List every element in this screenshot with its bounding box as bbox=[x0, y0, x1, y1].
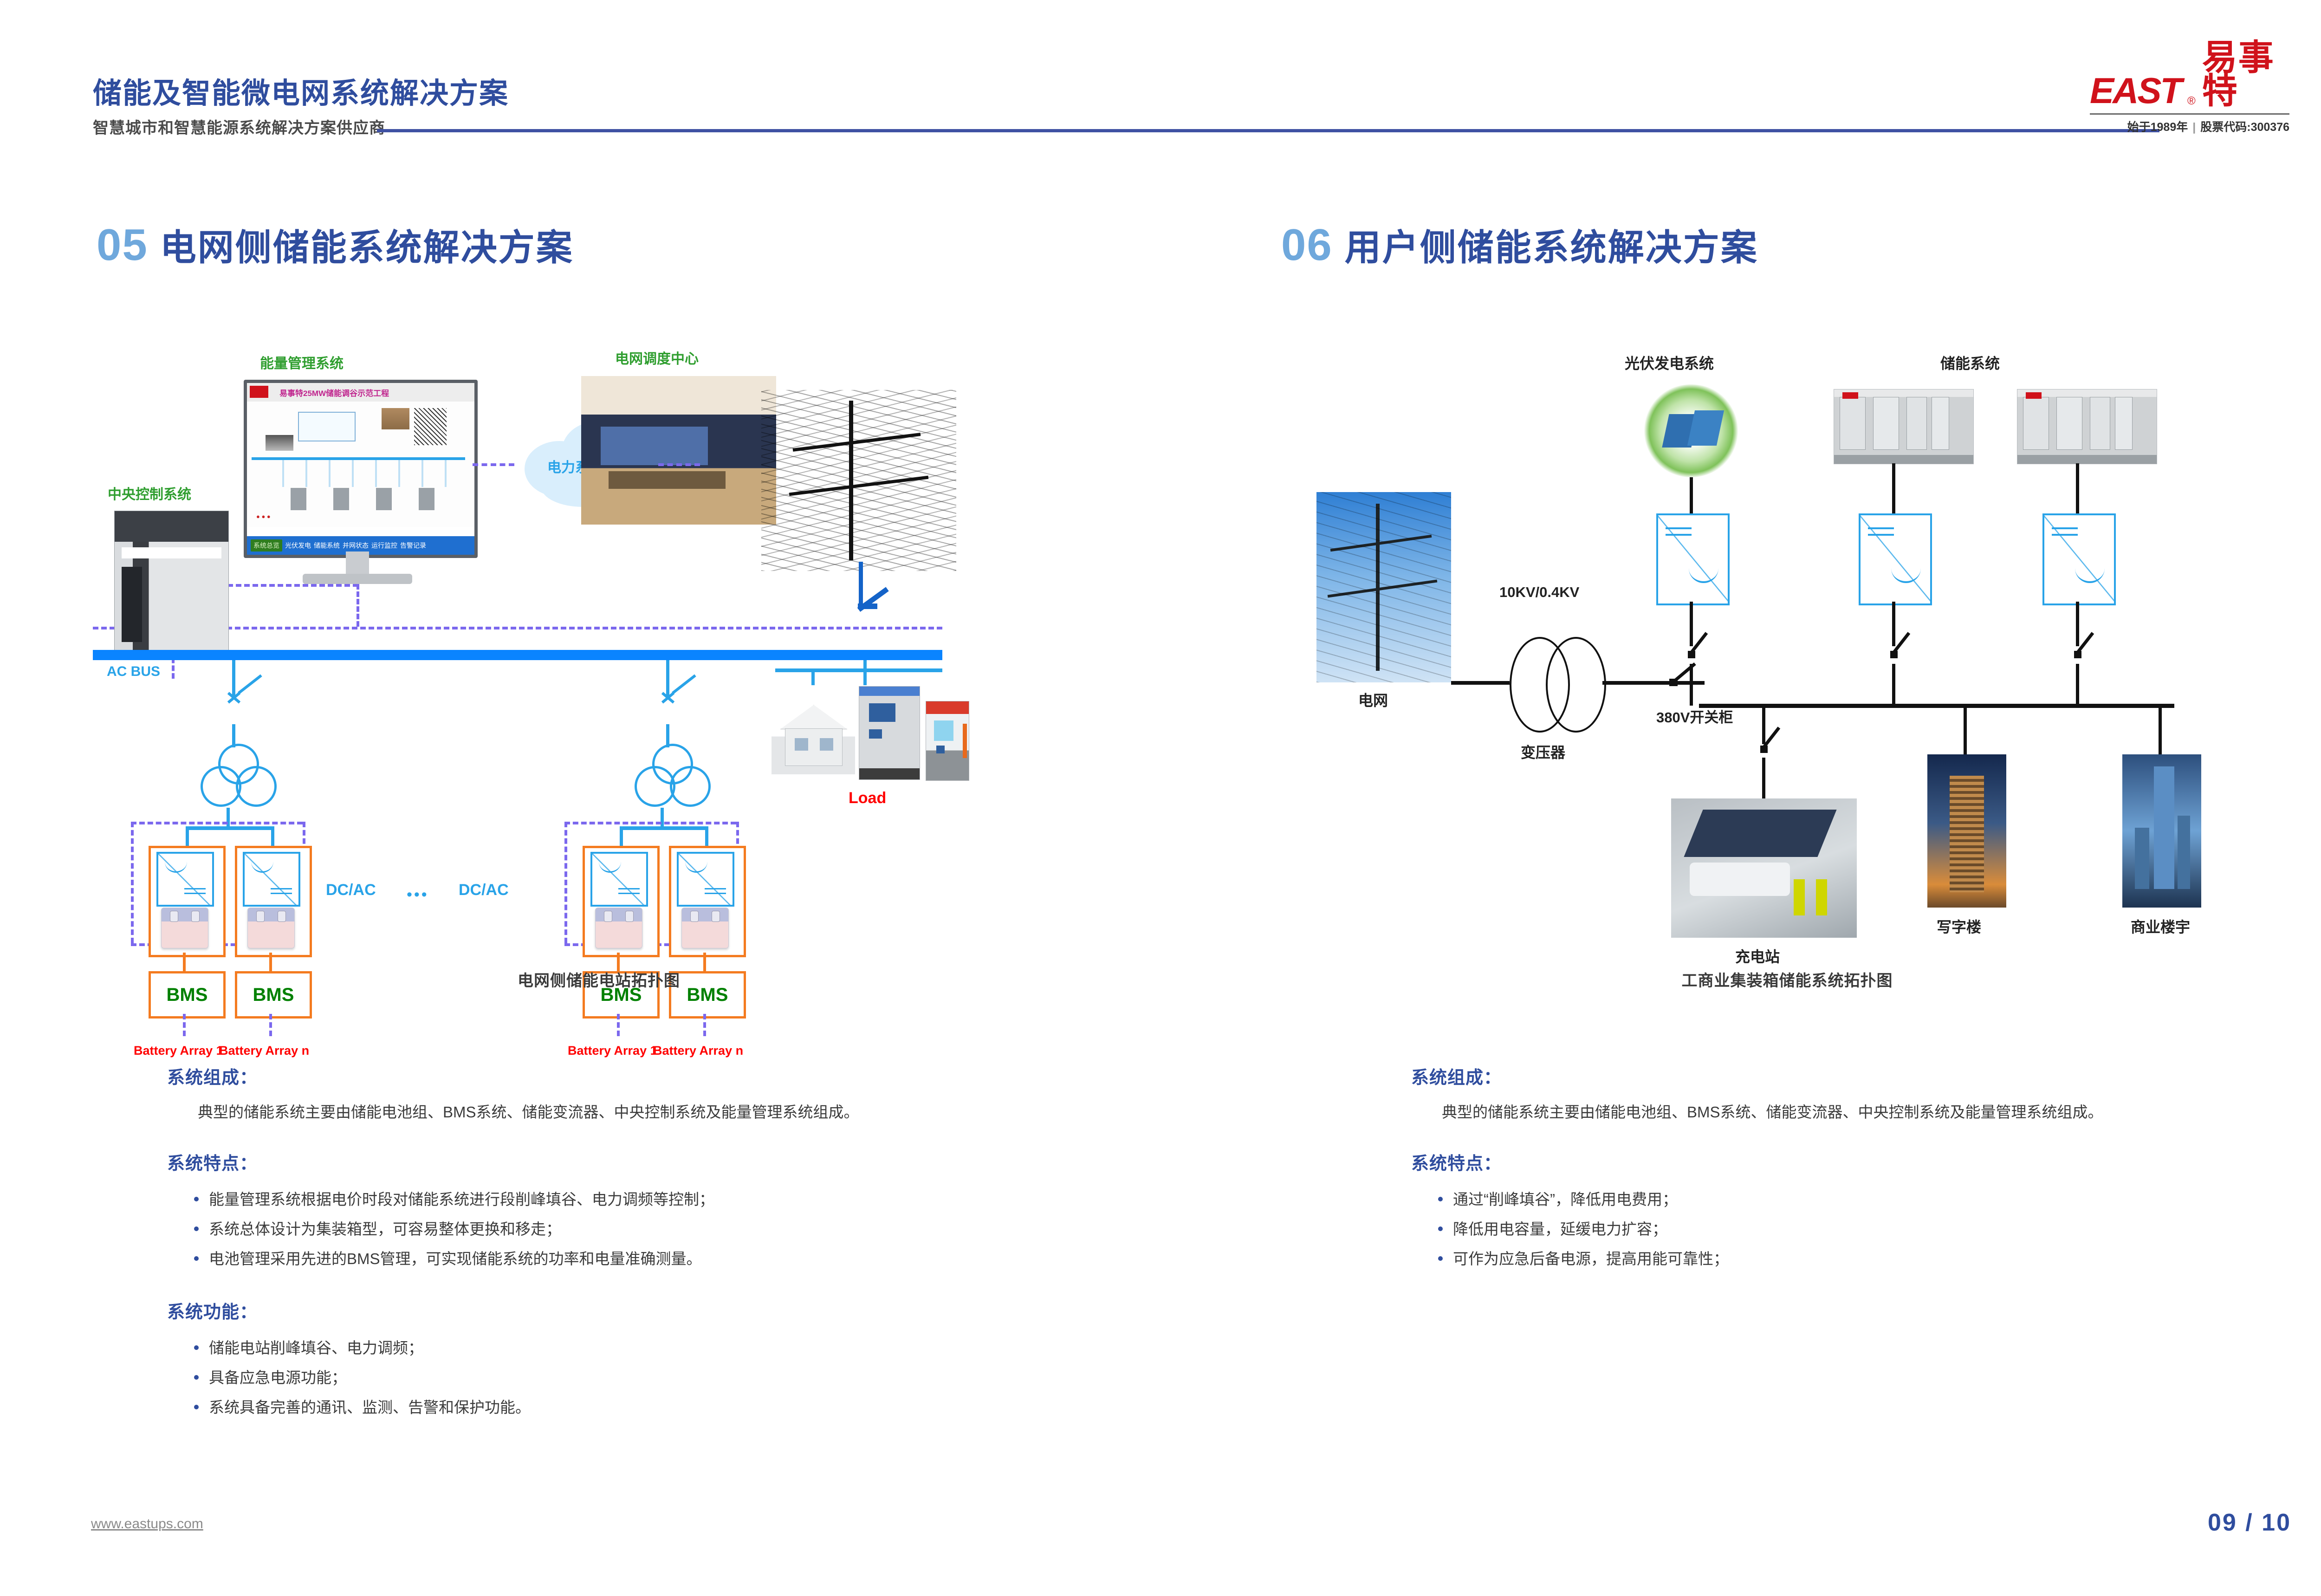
monitor-stand bbox=[346, 551, 369, 574]
monitor-base bbox=[303, 574, 412, 584]
list-item: 电池管理采用先进的BMS管理，可实现储能系统的功率和电量准确测量。 bbox=[192, 1244, 1096, 1274]
breaker-icon bbox=[2074, 641, 2102, 666]
features-list: 能量管理系统根据电价时段对储能系统进行段削峰填谷、电力调频等控制； 系统总体设计… bbox=[167, 1185, 1096, 1274]
page-number: 09 / 10 bbox=[2208, 1509, 2291, 1537]
load-label: Load bbox=[849, 789, 886, 807]
cloud-to-dispatch-link bbox=[658, 463, 700, 466]
battery-array-unit bbox=[583, 846, 660, 957]
ems-footer-item[interactable]: 告警记录 bbox=[400, 541, 426, 550]
ems-label: 能量管理系统 bbox=[260, 352, 344, 372]
switchgear-label: 380V开关柜 bbox=[1656, 706, 1733, 727]
pv-inverter-symbol bbox=[1656, 513, 1730, 605]
logo-chinese-name: 易事特 bbox=[2202, 41, 2289, 108]
composition-body: 典型的储能系统主要由储能电池组、BMS系统、储能变流器、中央控制系统及能量管理系… bbox=[167, 1099, 1096, 1126]
transformer-icon bbox=[635, 744, 709, 813]
list-item: 能量管理系统根据电价时段对储能系统进行段削峰填谷、电力调频等控制； bbox=[192, 1185, 1096, 1214]
bms-comm-link bbox=[269, 1014, 272, 1036]
right-diagram-caption: 工商业集装箱储能系统拓扑图 bbox=[1281, 968, 2293, 991]
inverter-feed-line bbox=[705, 826, 708, 846]
load-drop-line bbox=[2159, 708, 2162, 754]
breaker-icon bbox=[1890, 641, 1918, 666]
section-title: 用户侧储能系统解决方案 bbox=[1345, 229, 1758, 266]
tower-drop-line bbox=[859, 562, 863, 608]
ems-footer-item[interactable]: 运行监控 bbox=[371, 541, 397, 550]
ess-inverter-symbol bbox=[1859, 513, 1932, 605]
battery-pack-icon bbox=[247, 908, 295, 948]
grid-label: 电网 bbox=[1358, 689, 1388, 710]
load-feeder-drop bbox=[863, 660, 867, 685]
ems-screen-header: 易事特25MW储能调谷示范工程 bbox=[247, 383, 474, 402]
brand-logo: EAST ® 易事特 始于1989年|股票代码:300376 bbox=[2090, 65, 2289, 144]
inverter-feed-line bbox=[271, 826, 274, 846]
website-link[interactable]: www.eastups.com bbox=[91, 1516, 203, 1532]
functions-heading: 系统功能： bbox=[167, 1298, 1096, 1323]
ems-screen-title: 易事特25MW储能调谷示范工程 bbox=[279, 387, 447, 398]
dcac-inverter-symbol bbox=[243, 852, 300, 907]
ems-footer-item[interactable]: 并网状态 bbox=[343, 541, 369, 550]
battery-pack-icon bbox=[681, 908, 729, 948]
transformer-icon bbox=[201, 744, 275, 813]
composition-body: 典型的储能系统主要由储能电池组、BMS系统、储能变流器、中央控制系统及能量管理系… bbox=[1411, 1099, 2321, 1126]
load-feeder-line bbox=[775, 668, 942, 672]
acbus-tap-line bbox=[232, 660, 235, 697]
dcac-inverter-symbol bbox=[677, 852, 734, 907]
ems-footer-item[interactable]: 系统总览 bbox=[251, 539, 282, 551]
commercial-topology-diagram: 光伏发电系统 储能系统 bbox=[1281, 344, 2293, 966]
transmission-tower-icon bbox=[761, 390, 956, 571]
section-title: 电网侧储能系统解决方案 bbox=[160, 229, 574, 266]
battery-pack-icon bbox=[595, 908, 642, 948]
storage-container-icon bbox=[1834, 389, 1974, 464]
commercial-building-photo bbox=[2122, 754, 2201, 908]
composition-heading: 系统组成： bbox=[1411, 1063, 2321, 1089]
battery-array-unit bbox=[669, 846, 746, 957]
power-cabinet-icon bbox=[859, 686, 920, 780]
transformer-bus bbox=[186, 826, 274, 830]
ems-footer-item[interactable]: 储能系统 bbox=[314, 541, 340, 550]
list-item: 可作为应急后备电源，提高用能可靠性； bbox=[1436, 1244, 2321, 1274]
inverter-out-line bbox=[1690, 602, 1693, 646]
header-divider bbox=[377, 129, 2159, 132]
left-column: 能量管理系统 易事特25MW储能调谷示范工程 ● ● ● 系统总览 光伏发电 储… bbox=[93, 344, 1105, 1021]
bms-comm-link bbox=[183, 1014, 186, 1036]
load-drop-line bbox=[1762, 758, 1765, 798]
section-heading-05: 05 电网侧储能系统解决方案 bbox=[97, 223, 574, 267]
array-group-dashed-left bbox=[564, 822, 567, 943]
office-building-label: 写字楼 bbox=[1937, 915, 1981, 937]
voltage-ratio-label: 10KV/0.4KV bbox=[1499, 584, 1579, 601]
ems-to-controlbus-link bbox=[357, 584, 359, 627]
battery-array-label: Battery Array 1 bbox=[134, 1044, 223, 1058]
list-item: 系统具备完善的通讯、监测、告警和保护功能。 bbox=[192, 1393, 1096, 1422]
features-heading: 系统特点： bbox=[1411, 1149, 2321, 1174]
charging-station-label: 充电站 bbox=[1735, 945, 1780, 967]
left-diagram-caption: 电网侧储能电站拓扑图 bbox=[93, 968, 1105, 991]
ems-screen-logo bbox=[250, 386, 268, 398]
ellipsis-label: ••• bbox=[407, 886, 429, 904]
grid-tower-photo bbox=[1316, 492, 1451, 682]
central-control-plc bbox=[114, 511, 229, 651]
main-switch-icon bbox=[1669, 668, 1704, 701]
transformer-icon bbox=[1510, 637, 1605, 730]
ess-drop-line bbox=[1892, 463, 1895, 513]
ess-drop-line bbox=[2076, 463, 2079, 513]
lv-bus-line bbox=[1699, 704, 2174, 708]
logo-divider bbox=[2090, 113, 2289, 115]
registered-trademark-icon: ® bbox=[2187, 95, 2196, 108]
pv-system-icon bbox=[1642, 384, 1740, 477]
ems-mini-cabinet bbox=[266, 435, 293, 451]
bms-comm-link bbox=[703, 1014, 706, 1036]
array-group-dashed-top bbox=[131, 822, 303, 824]
features-heading: 系统特点： bbox=[167, 1149, 1096, 1174]
composition-heading: 系统组成： bbox=[167, 1063, 1096, 1089]
inverter-out-line bbox=[1892, 602, 1895, 646]
logo-wordmark: EAST bbox=[2090, 73, 2181, 108]
storage-system-label: 储能系统 bbox=[1940, 352, 2000, 373]
ems-mini-status: ● ● ● bbox=[256, 513, 271, 520]
dcac-label: DC/AC bbox=[459, 881, 509, 899]
battery-array-unit bbox=[235, 846, 312, 957]
inverter-feed-line bbox=[186, 826, 189, 846]
battery-array-label: Battery Array n bbox=[653, 1044, 743, 1058]
transformer-bus bbox=[620, 826, 708, 830]
plc-to-ems-link bbox=[227, 584, 358, 587]
ems-footer-item[interactable]: 光伏发电 bbox=[285, 541, 311, 550]
breaker-icon bbox=[1688, 641, 1716, 666]
office-building-photo bbox=[1927, 754, 2006, 908]
logo-founded: 始于1989年 bbox=[2127, 121, 2188, 134]
ev-charger-icon bbox=[926, 701, 969, 781]
dcac-inverter-symbol bbox=[156, 852, 214, 907]
storage-container-icon bbox=[2017, 389, 2157, 464]
ems-monitor: 易事特25MW储能调谷示范工程 ● ● ● 系统总览 光伏发电 储能系统 并网状… bbox=[244, 380, 478, 558]
features-list: 通过“削峰填谷”，降低用电费用； 降低用电容量，延缓电力扩容； 可作为应急后备电… bbox=[1411, 1185, 2321, 1274]
array-group-dashed-left bbox=[131, 822, 134, 943]
charging-station-photo bbox=[1671, 798, 1857, 938]
grid-side-topology-diagram: 能量管理系统 易事特25MW储能调谷示范工程 ● ● ● 系统总览 光伏发电 储… bbox=[93, 344, 1105, 966]
list-item: 降低用电容量，延缓电力扩容； bbox=[1436, 1214, 2321, 1244]
dispatch-center-photo bbox=[581, 376, 776, 525]
section-number: 06 bbox=[1281, 223, 1333, 267]
transformer-label: 变压器 bbox=[1521, 741, 1565, 762]
dcac-inverter-symbol bbox=[590, 852, 648, 907]
load-feeder-drop bbox=[811, 668, 815, 685]
ems-mini-feeders bbox=[261, 460, 456, 487]
ac-bus-line bbox=[93, 650, 942, 660]
ems-screen-body: ● ● ● bbox=[247, 402, 474, 527]
left-text-block: 系统组成： 典型的储能系统主要由储能电池组、BMS系统、储能变流器、中央控制系统… bbox=[167, 1063, 1096, 1426]
dispatch-center-label: 电网调度中心 bbox=[615, 347, 699, 368]
logo-tag-separator: | bbox=[2188, 121, 2200, 134]
dcac-label: DC/AC bbox=[326, 881, 376, 899]
right-text-block: 系统组成： 典型的储能系统主要由储能电池组、BMS系统、储能变流器、中央控制系统… bbox=[1411, 1063, 2321, 1277]
page-subtitle: 智慧城市和智慧能源系统解决方案供应商 bbox=[93, 115, 385, 138]
list-item: 储能电站削峰填谷、电力调频； bbox=[192, 1333, 1096, 1363]
battery-pack-icon bbox=[161, 908, 208, 948]
array-group-dashed-top bbox=[564, 822, 736, 824]
pv-system-label: 光伏发电系统 bbox=[1625, 352, 1714, 373]
commercial-building-label: 商业楼宇 bbox=[2131, 915, 2190, 937]
list-item: 具备应急电源功能； bbox=[192, 1363, 1096, 1393]
inverter-out-line bbox=[1892, 664, 1895, 706]
ems-mini-chart bbox=[298, 412, 356, 441]
battery-array-unit bbox=[149, 846, 226, 957]
functions-list: 储能电站削峰填谷、电力调频； 具备应急电源功能； 系统具备完善的通讯、监测、告警… bbox=[167, 1333, 1096, 1423]
breaker-icon bbox=[227, 694, 264, 727]
inverter-out-line bbox=[2076, 664, 2079, 706]
logo-stock-code: 股票代码:300376 bbox=[2200, 121, 2289, 134]
list-item: 通过“削峰填谷”，降低用电费用； bbox=[1436, 1185, 2321, 1214]
ess-inverter-symbol bbox=[2042, 513, 2116, 605]
ems-mini-tower-icon bbox=[414, 408, 447, 445]
pv-drop-line bbox=[1690, 477, 1693, 513]
battery-array-label: Battery Array 1 bbox=[568, 1044, 657, 1058]
section-number: 05 bbox=[97, 223, 148, 267]
ac-bus-label: AC BUS bbox=[107, 664, 160, 680]
page-title: 储能及智能微电网系统解决方案 bbox=[93, 70, 509, 111]
logo-tagline: 始于1989年|股票代码:300376 bbox=[2127, 118, 2289, 135]
ems-to-cloud-link bbox=[473, 463, 514, 466]
tower-switch-icon bbox=[854, 603, 896, 641]
section-heading-06: 06 用户侧储能系统解决方案 bbox=[1281, 223, 1758, 267]
right-column: 光伏发电系统 储能系统 bbox=[1281, 344, 2293, 1021]
list-item: 系统总体设计为集装箱型，可容易整体更换和移走； bbox=[192, 1214, 1096, 1244]
bms-comm-link bbox=[617, 1014, 620, 1036]
battery-array-label: Battery Array n bbox=[219, 1044, 309, 1058]
inverter-feed-line bbox=[620, 826, 623, 846]
page-header: 储能及智能微电网系统解决方案 智慧城市和智慧能源系统解决方案供应商 EAST ®… bbox=[0, 0, 2321, 153]
central-control-label: 中央控制系统 bbox=[108, 483, 191, 503]
breaker-icon bbox=[661, 694, 698, 727]
grid-to-transformer-line bbox=[1451, 681, 1510, 685]
inverter-out-line bbox=[2076, 602, 2079, 646]
acbus-tap-line bbox=[666, 660, 669, 697]
load-drop-line bbox=[1964, 708, 1967, 754]
ems-mini-units bbox=[264, 488, 459, 510]
house-load-icon bbox=[772, 695, 855, 774]
logo-mark: EAST ® 易事特 bbox=[2090, 65, 2289, 108]
ems-mini-photo bbox=[382, 408, 409, 429]
